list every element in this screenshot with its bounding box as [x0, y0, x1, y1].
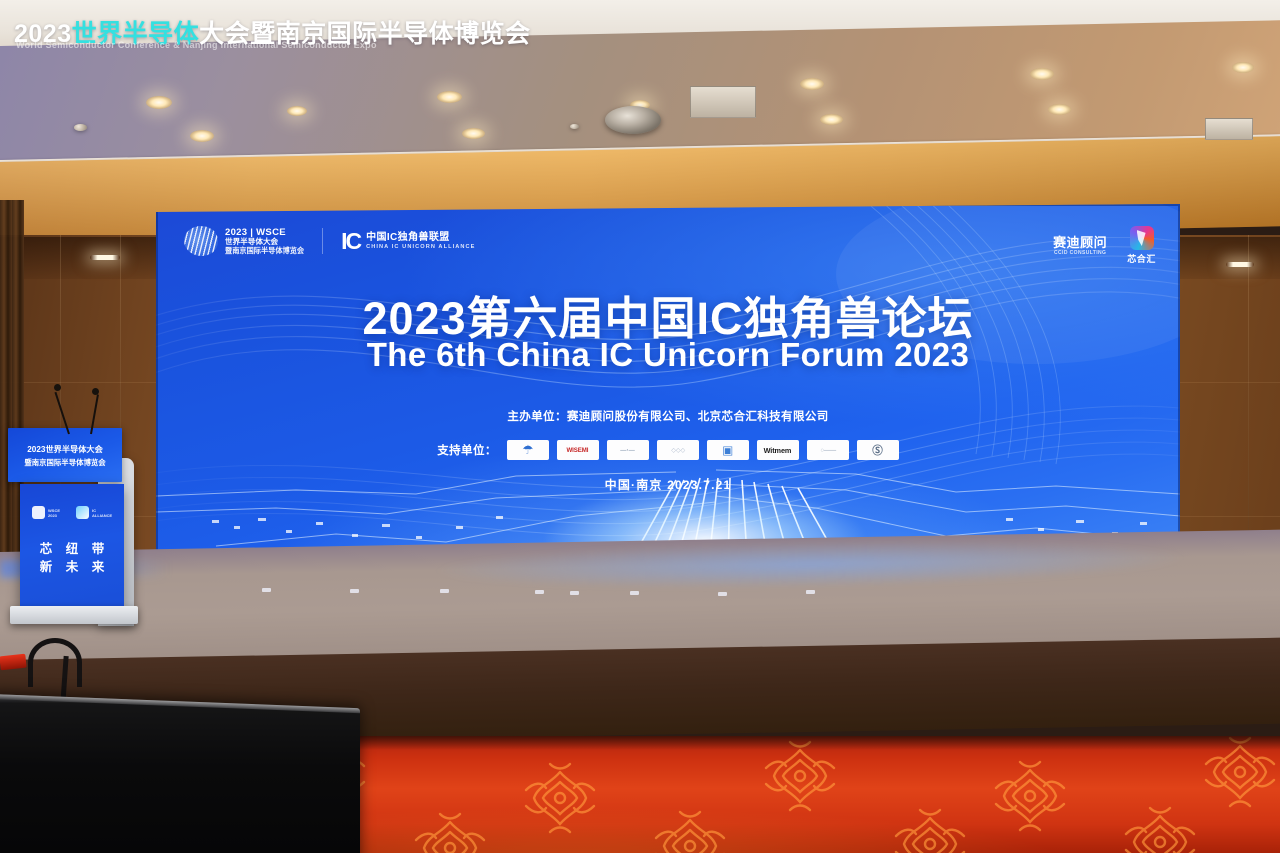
stage-marker: [350, 589, 359, 593]
supporter-text-6: Witmem: [764, 446, 792, 455]
supporter-mark-3: —⋅—: [621, 446, 635, 454]
stage-marker: [806, 590, 815, 594]
microphone-head-icon: [54, 384, 61, 391]
ceiling-downlight: [146, 96, 172, 109]
podium-screen-line1: 2023世界半导体大会: [27, 443, 103, 455]
ceiling-downlight: [437, 91, 462, 103]
host-organizations: 主办单位：赛迪顾问股份有限公司、北京芯合汇科技有限公司: [156, 408, 1180, 424]
supporters-row: 支持单位： ☂ WISEMI —⋅— ◇◇◇ ▣ Witmem: [156, 440, 1180, 460]
ceiling-downlight: [287, 106, 307, 116]
supporter-mark-1: ☂: [522, 442, 533, 457]
ceiling-downlight: [800, 78, 824, 90]
wsce-logo: 2023 | WSCE 世界半导体大会 暨南京国际半导体博览会: [184, 226, 304, 256]
podium-logo-marks: WSCE2023 ICALLIANCE: [32, 506, 112, 519]
wsce-logo-line3: 暨南京国际半导体博览会: [225, 247, 304, 255]
podium-screen-line2: 暨南京国际半导体博览会: [24, 457, 105, 468]
speaker-podium: 2023世界半导体大会 暨南京国际半导体博览会 WSCE2023 ICALLIA…: [6, 428, 132, 628]
supporter-logo-3: —⋅—: [607, 440, 649, 460]
stage-marker: [440, 589, 449, 593]
event-date-location: 中国·南京 2023.7.21: [156, 476, 1180, 493]
ic-mark-icon: IC: [341, 230, 360, 253]
supporter-text-2: WISEMI: [567, 447, 589, 454]
supporter-logo-2: WISEMI: [557, 440, 599, 460]
supporter-logo-7: ○——: [807, 440, 849, 460]
smoke-detector-icon: [74, 124, 87, 131]
led-video-wall: 2023 | WSCE 世界半导体大会 暨南京国际半导体博览会 IC 中国IC独…: [156, 204, 1180, 570]
supporter-logo-5: ▣: [707, 440, 749, 460]
podium-base: [10, 606, 138, 624]
xinhehui-logo: 芯合汇: [1127, 226, 1156, 265]
podium-slogan-line2: 新 未 来: [20, 558, 124, 576]
ic-alliance-logo: IC 中国IC独角兽联盟 CHINA IC UNICORN ALLIANCE: [341, 230, 475, 253]
ceiling-downlight: [1232, 62, 1254, 73]
supporter-mark-7: ○——: [820, 447, 836, 454]
podium-mark-label: WSCE2023: [48, 508, 60, 518]
led-left-logos: 2023 | WSCE 世界半导体大会 暨南京国际半导体博览会 IC 中国IC独…: [184, 226, 476, 256]
conference-hall-photo: 2023 | WSCE 世界半导体大会 暨南京国际半导体博览会 IC 中国IC独…: [0, 0, 1280, 853]
ceiling-downlight: [820, 114, 843, 125]
logo-divider: [322, 228, 323, 254]
podium-slogan: 芯 纽 带 新 未 来: [20, 540, 124, 576]
led-right-logos: 赛迪顾问 CCID CONSULTING 芯合汇: [1053, 226, 1156, 265]
podium-led-screen: 2023世界半导体大会 暨南京国际半导体博览会: [8, 428, 122, 482]
ccid-logo: 赛迪顾问 CCID CONSULTING: [1053, 235, 1107, 257]
ic-alliance-name-cn: 中国IC独角兽联盟: [366, 232, 475, 244]
supporter-logo-1: ☂: [507, 440, 549, 460]
ceiling-speaker-icon: [605, 106, 661, 134]
podium-slogan-line1: 芯 纽 带: [20, 540, 124, 558]
ceiling-downlight: [1048, 104, 1071, 115]
supporters-label: 支持单位：: [437, 442, 497, 458]
ceiling-downlight: [190, 130, 214, 142]
xinhehui-logo-icon: [1130, 226, 1154, 250]
led-content: 2023 | WSCE 世界半导体大会 暨南京国际半导体博览会 IC 中国IC独…: [156, 204, 1180, 570]
stage-marker: [535, 590, 544, 594]
stage-marker: [630, 591, 639, 595]
wsce-mark-icon: [32, 506, 45, 519]
podium-body: WSCE2023 ICALLIANCE 芯 纽 带 新 未 来: [20, 484, 124, 608]
supporter-mark-5: ▣: [722, 443, 733, 456]
ic-alliance-name-en: CHINA IC UNICORN ALLIANCE: [366, 244, 475, 250]
globe-lines-icon: [184, 226, 218, 256]
ceiling-vent: [1205, 118, 1253, 140]
forum-title-en: The 6th China IC Unicorn Forum 2023: [156, 336, 1180, 374]
wall-strip-light: [90, 255, 120, 260]
stage-marker: [570, 591, 579, 595]
supporter-logo-6: Witmem: [757, 440, 799, 460]
smoke-detector-icon: [570, 124, 579, 129]
microphone-head-icon: [92, 388, 99, 395]
supporter-logo-4: ◇◇◇: [657, 440, 699, 460]
supporter-mark-8: Ⓢ: [873, 442, 883, 457]
wall-strip-light: [1226, 262, 1254, 267]
equipment-arm: [18, 638, 76, 700]
xinhehui-name: 芯合汇: [1127, 252, 1156, 265]
stage-marker: [718, 592, 727, 596]
supporter-logo-8: Ⓢ: [857, 440, 899, 460]
alliance-mark-icon: [76, 506, 89, 519]
podium-mark-label: ICALLIANCE: [92, 508, 112, 518]
foreground-monitor: [0, 694, 360, 853]
supporter-mark-4: ◇◇◇: [671, 446, 685, 454]
ceiling-vent: [690, 86, 756, 118]
ccid-name-en: CCID CONSULTING: [1053, 250, 1107, 256]
ceiling-downlight: [462, 128, 485, 139]
stage-marker: [262, 588, 271, 592]
ceiling-downlight: [1030, 68, 1054, 80]
ccid-name-cn: 赛迪顾问: [1053, 235, 1107, 251]
